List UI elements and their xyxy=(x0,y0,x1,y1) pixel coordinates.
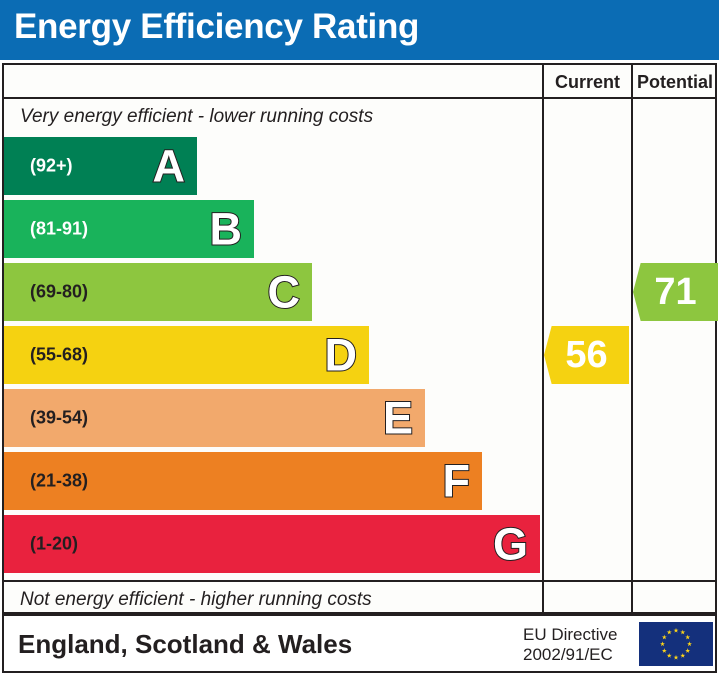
footer-directive: EU Directive 2002/91/EC xyxy=(523,625,617,665)
band-letter-label: C xyxy=(268,270,301,315)
potential-column-divider xyxy=(631,65,633,612)
rating-marker-current: 56 xyxy=(544,326,629,384)
band-range-label: (69-80) xyxy=(30,282,88,303)
directive-line-1: EU Directive xyxy=(523,625,617,645)
band-range-label: (39-54) xyxy=(30,408,88,429)
band-range-label: (92+) xyxy=(30,156,73,177)
band-letter-label: G xyxy=(493,522,528,567)
rating-band-f: (21-38)F xyxy=(4,452,482,510)
chart-body: Current Potential Very energy efficient … xyxy=(2,63,717,614)
rating-band-g: (1-20)G xyxy=(4,515,540,573)
band-letter-label: E xyxy=(383,396,413,441)
rating-band-list: (92+)A(81-91)B(69-80)C(55-68)D(39-54)E(2… xyxy=(4,137,542,577)
rating-marker-potential: 71 xyxy=(633,263,718,321)
column-header-potential: Potential xyxy=(633,70,717,94)
band-letter-label: B xyxy=(210,207,243,252)
rating-band-e: (39-54)E xyxy=(4,389,425,447)
rating-band-d: (55-68)D xyxy=(4,326,369,384)
band-range-label: (81-91) xyxy=(30,219,88,240)
note-very-efficient: Very energy efficient - lower running co… xyxy=(20,106,373,128)
page-title: Energy Efficiency Rating xyxy=(14,7,419,47)
rating-band-b: (81-91)B xyxy=(4,200,254,258)
header-row-divider xyxy=(4,97,715,99)
certificate-footer: England, Scotland & Wales EU Directive 2… xyxy=(2,614,717,673)
directive-line-2: 2002/91/EC xyxy=(523,645,617,665)
rating-band-a: (92+)A xyxy=(4,137,197,195)
current-column-divider xyxy=(542,65,544,612)
energy-efficiency-certificate: Energy Efficiency Rating Current Potenti… xyxy=(0,0,719,675)
rating-band-c: (69-80)C xyxy=(4,263,312,321)
band-letter-label: D xyxy=(325,333,358,378)
band-letter-label: F xyxy=(443,459,471,504)
column-header-current: Current xyxy=(544,70,631,94)
footer-row-divider xyxy=(4,580,715,582)
footer-region-label: England, Scotland & Wales xyxy=(18,629,352,660)
eu-flag-icon xyxy=(639,622,713,666)
band-range-label: (21-38) xyxy=(30,471,88,492)
band-letter-label: A xyxy=(153,144,186,189)
chart-header-bar: Energy Efficiency Rating xyxy=(0,0,719,60)
band-range-label: (55-68) xyxy=(30,345,88,366)
note-not-efficient: Not energy efficient - higher running co… xyxy=(20,589,372,611)
band-range-label: (1-20) xyxy=(30,534,78,555)
